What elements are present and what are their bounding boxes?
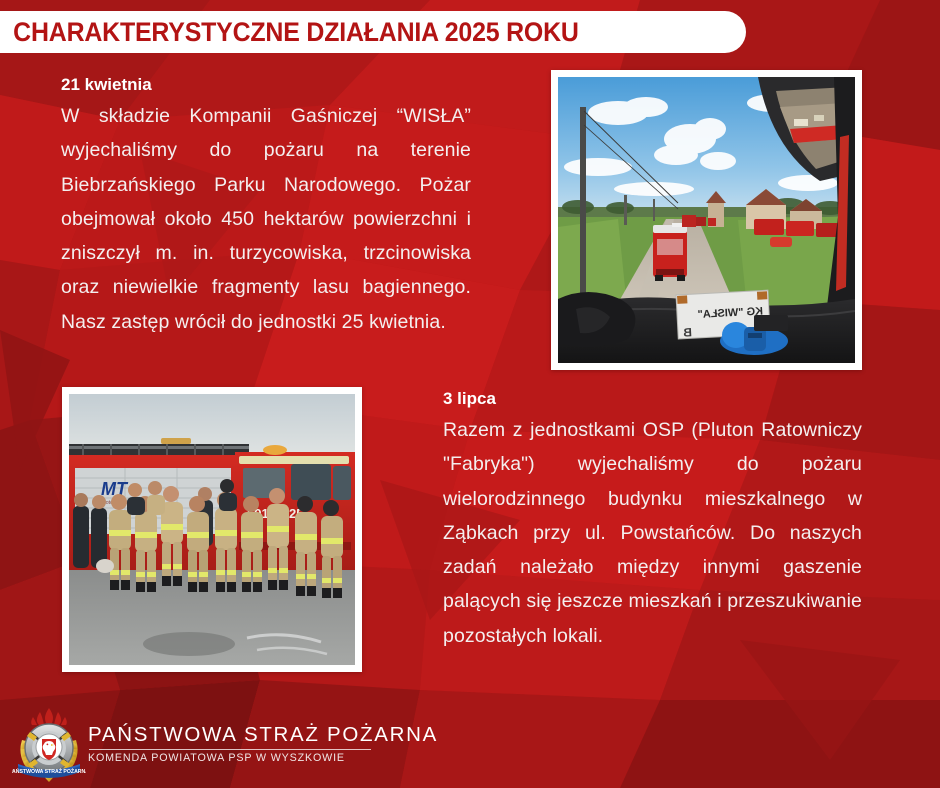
emblem-ribbon-text: PAŃSTWOWA STRAŻ POŻARNA [12,767,86,775]
page-title: CHARAKTERYSTYCZNE DZIAŁANIA 2025 ROKU [0,17,579,48]
footer-unit: KOMENDA POWIATOWA PSP W WYSZKOWIE [88,752,438,764]
poster-canvas: CHARAKTERYSTYCZNE DZIAŁANIA 2025 ROKU 21… [0,0,940,788]
svg-text:B: B [683,325,693,339]
psp-emblem: PAŃSTWOWA STRAŻ POŻARNA [12,706,86,782]
footer-wordmark: PAŃSTWOWA STRAŻ POŻARNA KOMENDA POWIATOW… [88,722,438,764]
footer-organization: PAŃSTWOWA STRAŻ POŻARNA [88,722,438,747]
entry-date-april: 21 kwietnia [61,74,471,96]
convoy-photo: KG "WISŁA" B [558,77,855,363]
entry-block-april: 21 kwietnia W składzie Kompanii Gaśnicze… [61,74,471,339]
entry-body-april: W składzie Kompanii Gaśniczej “WISŁA” wy… [61,99,471,339]
footer-divider [89,749,371,750]
crew-photo: MT moto-truck.com 691 25 [69,394,355,665]
entry-body-july: Razem z jednostkami OSP (Pluton Ratownic… [443,413,862,653]
header-banner: CHARAKTERYSTYCZNE DZIAŁANIA 2025 ROKU [0,11,746,53]
entry-block-july: 3 lipca Razem z jednostkami OSP (Pluton … [443,388,862,653]
convoy-photo-frame: KG "WISŁA" B [551,70,862,370]
crew-photo-frame: MT moto-truck.com 691 25 [62,387,362,672]
entry-date-july: 3 lipca [443,388,862,410]
